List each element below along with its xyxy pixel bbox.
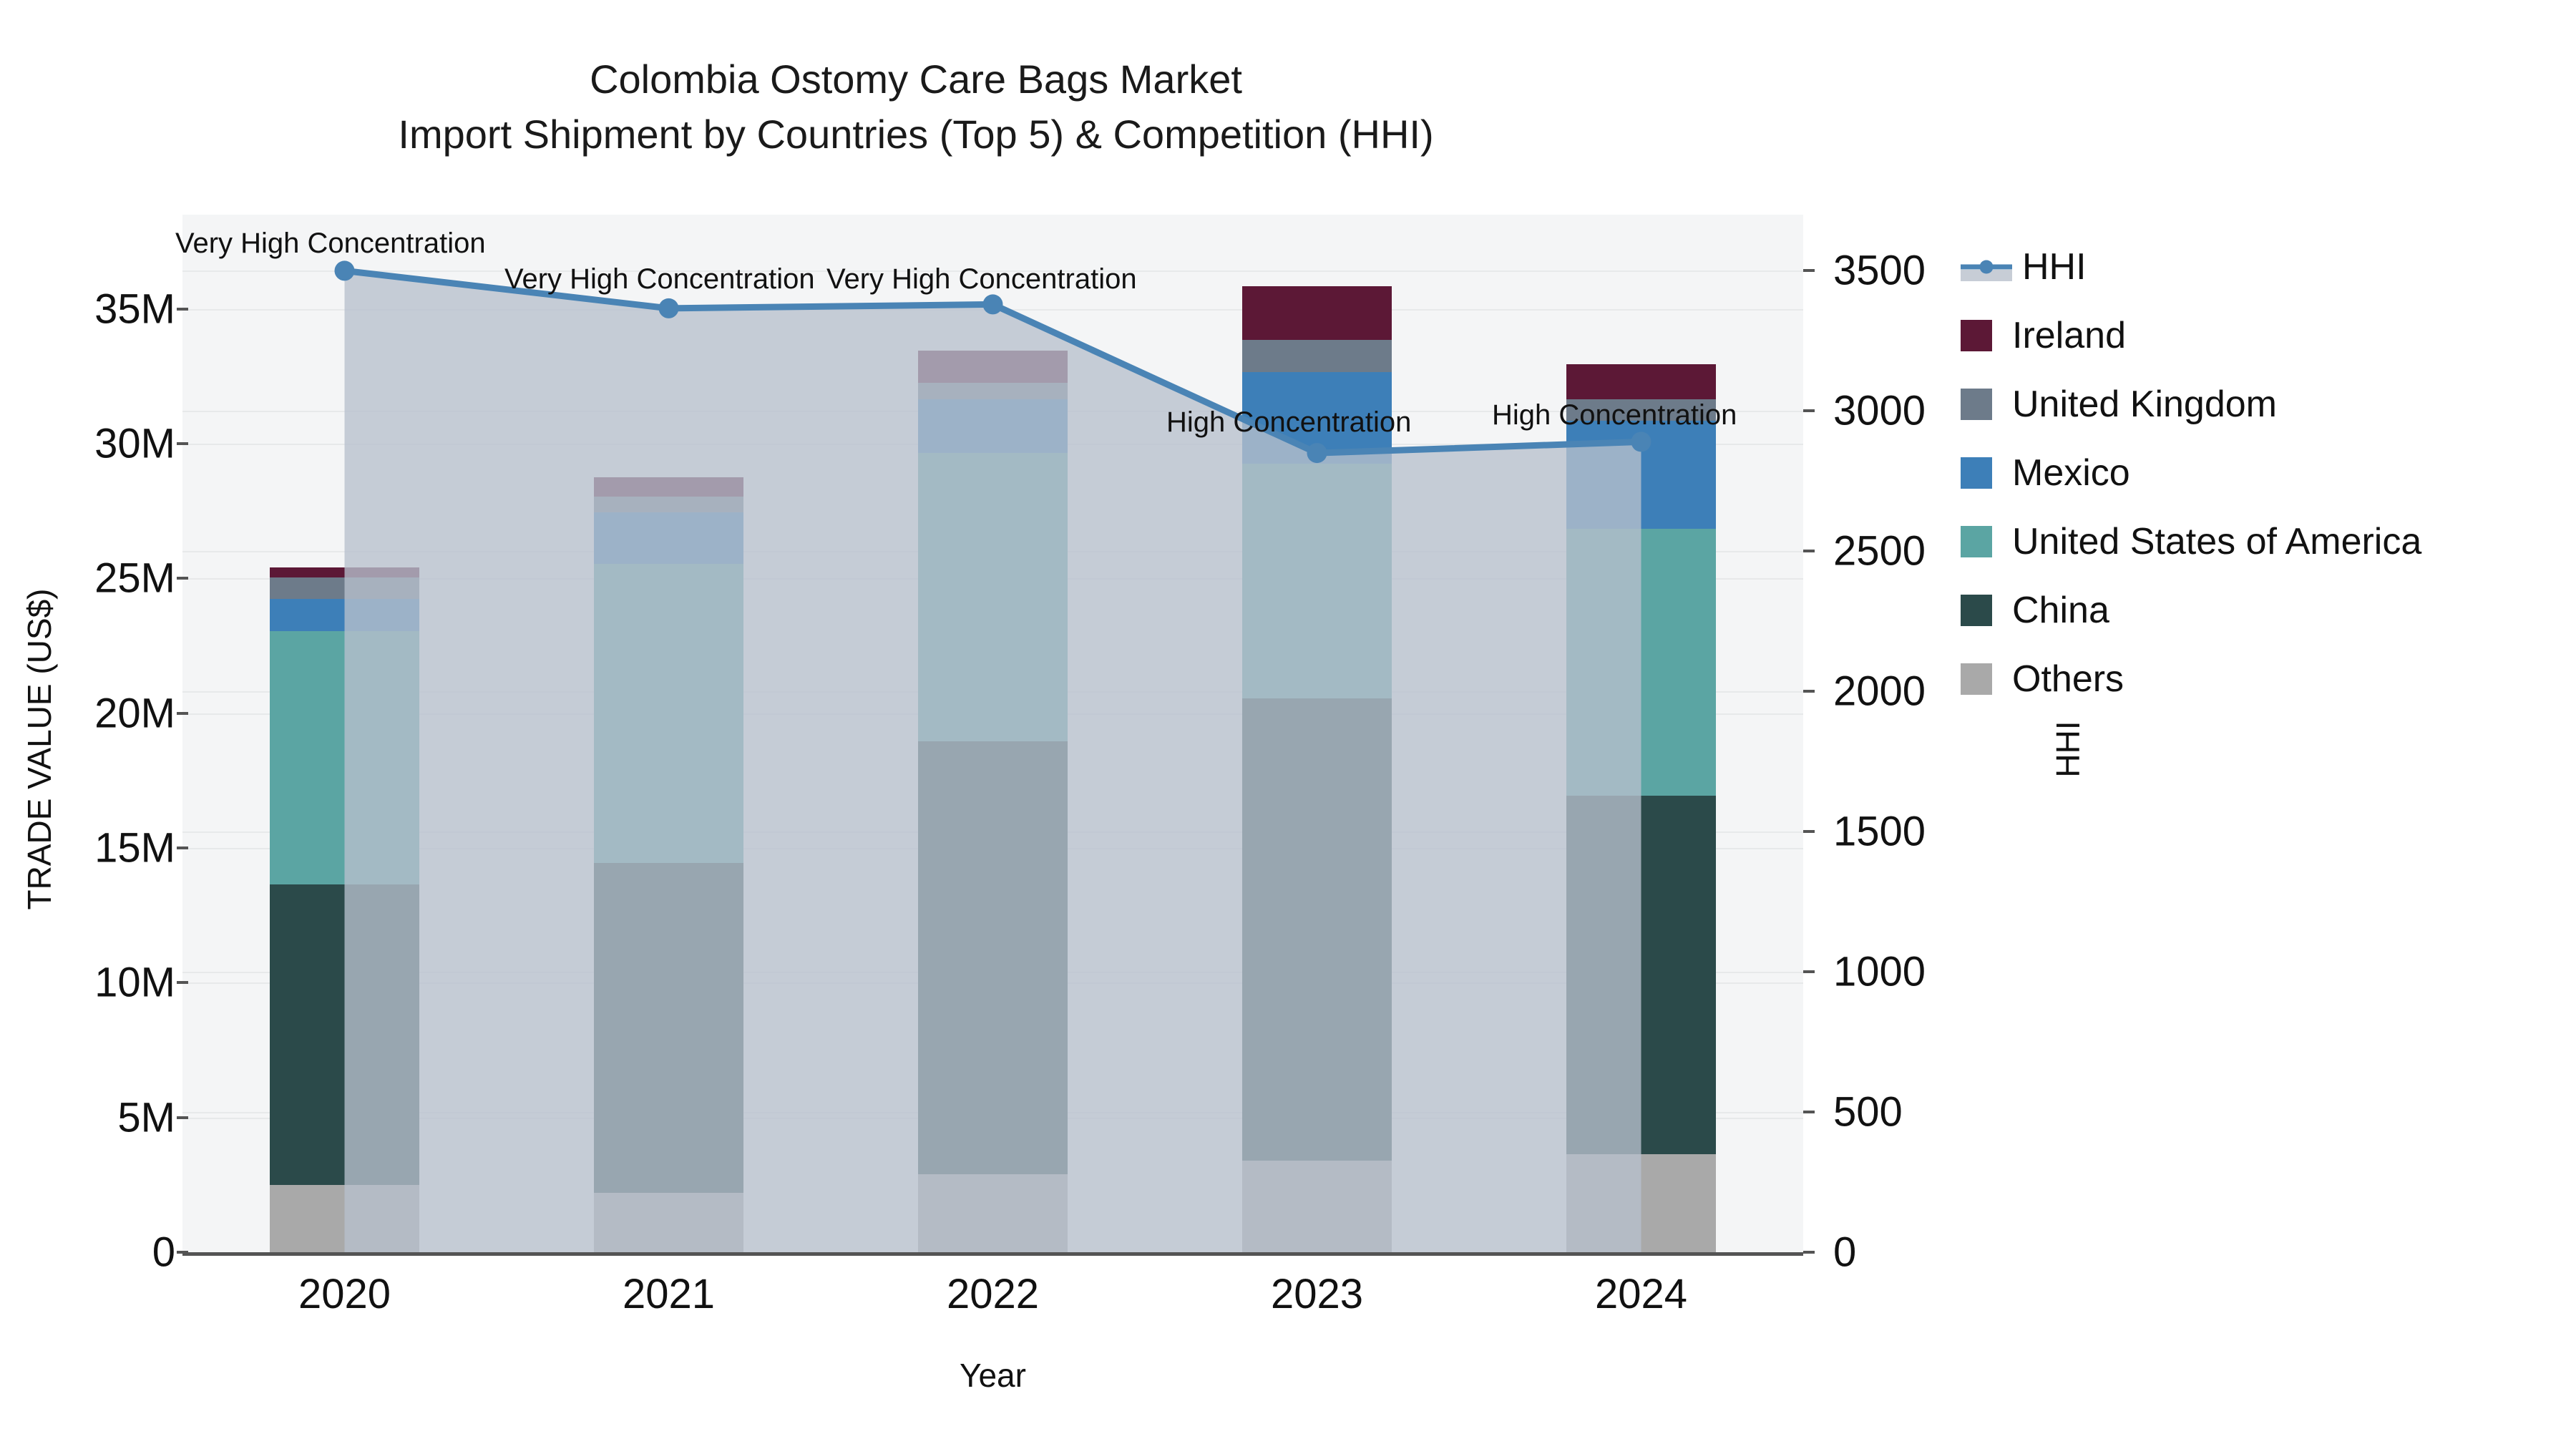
bar-segment-united-states-of-america[interactable]	[270, 631, 419, 884]
legend-item-mexico[interactable]: Mexico	[1961, 439, 2555, 507]
x-axis-tick-2024: 2024	[1595, 1270, 1687, 1318]
legend-label: United States of America	[2012, 523, 2421, 560]
y-axis-right-tick-label: 2500	[1833, 527, 1926, 575]
bar-stack	[1566, 364, 1715, 1252]
hhi-annotation-2021: Very High Concentration	[504, 263, 815, 296]
legend-label: China	[2012, 592, 2109, 629]
bar-segment-ireland[interactable]	[918, 351, 1067, 383]
legend-label: Others	[2012, 660, 2124, 698]
bar-segment-china[interactable]	[270, 884, 419, 1185]
bar-segment-china[interactable]	[918, 741, 1067, 1174]
y-axis-left-tickmark	[177, 981, 188, 984]
y-axis-right-tick-label: 3000	[1833, 387, 1926, 435]
bar-stack	[594, 477, 743, 1252]
bar-segment-mexico[interactable]	[1566, 421, 1715, 529]
y-axis-left-tick-label: 35M	[0, 285, 175, 333]
bar-group-2021[interactable]	[594, 215, 743, 1252]
bar-group-2022[interactable]	[918, 215, 1067, 1252]
bar-segment-ireland[interactable]	[1242, 286, 1391, 340]
y-axis-right-tickmark	[1803, 409, 1815, 412]
y-axis-right-tickmark	[1803, 690, 1815, 693]
y-axis-right-tick-label: 0	[1833, 1229, 1856, 1277]
chart-title-line-1: Colombia Ostomy Care Bags Market	[0, 52, 1832, 107]
y-axis-left-tickmark	[177, 712, 188, 715]
legend-label: Ireland	[2012, 317, 2126, 354]
legend-item-ireland[interactable]: Ireland	[1961, 301, 2555, 370]
bar-series-layer	[182, 215, 1803, 1252]
y-axis-right-tickmark	[1803, 550, 1815, 552]
y-axis-right-tickmark	[1803, 1251, 1815, 1254]
bar-segment-united-states-of-america[interactable]	[1566, 529, 1715, 796]
y-axis-left-tick-label: 0	[0, 1229, 175, 1277]
bar-segment-china[interactable]	[1242, 698, 1391, 1161]
bar-segment-others[interactable]	[594, 1193, 743, 1252]
legend-line-icon	[1961, 251, 2012, 283]
bar-segment-united-kingdom[interactable]	[270, 577, 419, 599]
chart-root: Colombia Ostomy Care Bags Market Import …	[0, 0, 2576, 1449]
chart-title-line-2: Import Shipment by Countries (Top 5) & C…	[0, 107, 1832, 162]
bar-segment-united-states-of-america[interactable]	[594, 564, 743, 863]
legend-line-dot	[1980, 260, 1994, 274]
bar-group-2024[interactable]	[1566, 215, 1715, 1252]
y-axis-left-tick-label: 30M	[0, 420, 175, 468]
hhi-annotation-2024: High Concentration	[1492, 399, 1737, 431]
bar-segment-china[interactable]	[594, 863, 743, 1193]
bar-segment-united-states-of-america[interactable]	[1242, 464, 1391, 698]
y-axis-left-tickmark	[177, 1116, 188, 1119]
legend-item-united-kingdom[interactable]: United Kingdom	[1961, 370, 2555, 439]
y-axis-right-tickmark	[1803, 1111, 1815, 1113]
bar-stack	[918, 351, 1067, 1252]
x-axis-line	[182, 1252, 1803, 1256]
bar-segment-united-states-of-america[interactable]	[918, 453, 1067, 741]
legend-label: United Kingdom	[2012, 386, 2277, 423]
bar-segment-mexico[interactable]	[270, 599, 419, 631]
bar-segment-ireland[interactable]	[1566, 364, 1715, 399]
y-axis-right-tick-label: 3500	[1833, 247, 1926, 295]
hhi-annotation-2022: Very High Concentration	[826, 263, 1137, 296]
x-axis-title: Year	[182, 1356, 1803, 1395]
legend-swatch	[1961, 457, 1992, 489]
chart-title: Colombia Ostomy Care Bags Market Import …	[0, 52, 1832, 162]
bar-segment-mexico[interactable]	[594, 512, 743, 564]
bar-group-2023[interactable]	[1242, 215, 1391, 1252]
y-axis-left-tickmark	[177, 442, 188, 445]
bar-segment-others[interactable]	[270, 1185, 419, 1252]
y-axis-right-tick-label: 1500	[1833, 808, 1926, 856]
bar-segment-others[interactable]	[918, 1174, 1067, 1252]
bar-segment-china[interactable]	[1566, 796, 1715, 1154]
y-axis-right-tick-label: 500	[1833, 1088, 1903, 1136]
bar-segment-others[interactable]	[1242, 1161, 1391, 1252]
y-axis-right-ticks: 0500100015002000250030003500	[1803, 0, 2039, 1449]
bar-segment-ireland[interactable]	[594, 477, 743, 496]
y-axis-right-tickmark	[1803, 269, 1815, 272]
y-axis-left-tickmark	[177, 1251, 188, 1254]
y-axis-right-tickmark	[1803, 830, 1815, 833]
legend-label: Mexico	[2012, 454, 2130, 492]
x-axis-tick-2023: 2023	[1271, 1270, 1363, 1318]
bar-segment-united-kingdom[interactable]	[594, 497, 743, 513]
legend-item-others[interactable]: Others	[1961, 645, 2555, 713]
legend-swatch	[1961, 389, 1992, 420]
bar-segment-mexico[interactable]	[918, 399, 1067, 453]
y-axis-left-tick-label: 5M	[0, 1093, 175, 1141]
legend-item-united-states-of-america[interactable]: United States of America	[1961, 507, 2555, 576]
legend-swatch	[1961, 595, 1992, 626]
legend-label: HHI	[2022, 248, 2087, 286]
bar-segment-united-kingdom[interactable]	[918, 383, 1067, 399]
legend-swatch	[1961, 526, 1992, 557]
legend: HHIIrelandUnited KingdomMexicoUnited Sta…	[1961, 233, 2555, 713]
x-axis-tick-2020: 2020	[298, 1270, 391, 1318]
x-axis-tick-2022: 2022	[947, 1270, 1039, 1318]
bar-segment-others[interactable]	[1566, 1154, 1715, 1252]
legend-item-hhi[interactable]: HHI	[1961, 233, 2555, 301]
hhi-annotation-2023: High Concentration	[1166, 406, 1411, 439]
y-axis-left-tickmark	[177, 847, 188, 849]
y-axis-right-tickmark	[1803, 970, 1815, 973]
y-axis-left-tickmark	[177, 577, 188, 580]
bar-segment-ireland[interactable]	[270, 567, 419, 577]
y-axis-left-tickmark	[177, 308, 188, 311]
x-axis-tick-2021: 2021	[623, 1270, 715, 1318]
hhi-annotation-2020: Very High Concentration	[175, 228, 486, 260]
legend-swatch	[1961, 663, 1992, 695]
legend-swatch	[1961, 320, 1992, 351]
bar-group-2020[interactable]	[270, 215, 419, 1252]
legend-item-china[interactable]: China	[1961, 576, 2555, 645]
bar-segment-united-kingdom[interactable]	[1242, 340, 1391, 372]
y-axis-left-title: TRADE VALUE (US$)	[20, 463, 59, 1035]
y-axis-right-tick-label: 2000	[1833, 668, 1926, 716]
y-axis-right-tick-label: 1000	[1833, 948, 1926, 996]
bar-stack	[270, 567, 419, 1252]
